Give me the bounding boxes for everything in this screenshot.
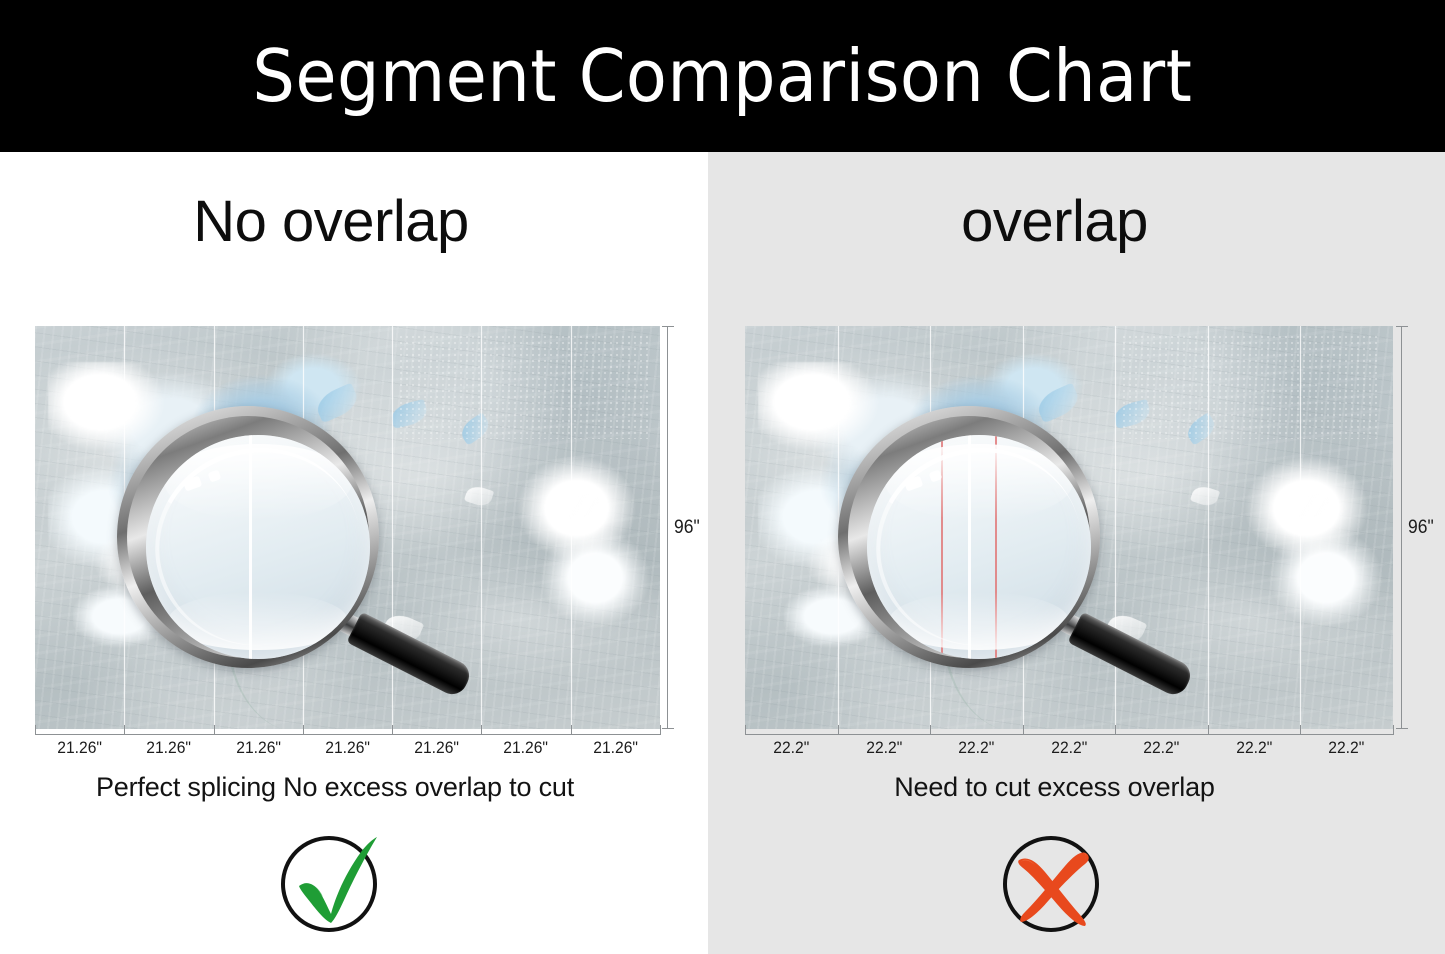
dimension-tick <box>214 725 215 735</box>
comparison-panels: No overlap <box>0 152 1445 954</box>
seam-line <box>481 326 482 729</box>
magnifier-ring-inner <box>127 416 369 658</box>
caption-left: Perfect splicing No excess overlap to cu… <box>0 772 689 803</box>
height-label-left: 96" <box>674 517 700 539</box>
dimension-line-horizontal <box>35 734 660 735</box>
dimension-line-vertical <box>667 326 668 729</box>
caption-right: Need to cut excess overlap <box>686 772 1423 803</box>
dimension-tick <box>745 725 746 735</box>
panel-overlap: overlap <box>708 152 1445 954</box>
width-label: 22.2" <box>1212 738 1297 758</box>
dimension-tick <box>571 725 572 735</box>
width-label: 21.26" <box>485 738 567 758</box>
width-label: 22.2" <box>841 738 926 758</box>
page-title: Segment Comparison Chart <box>253 34 1193 118</box>
width-label: 22.2" <box>1026 738 1111 758</box>
dimension-line-vertical <box>1401 326 1402 729</box>
dimension-tick <box>124 725 125 735</box>
dimension-tick <box>838 725 839 735</box>
dimension-line-horizontal <box>745 734 1393 735</box>
magnifier-ring-inner <box>848 416 1090 658</box>
verdict-right <box>686 824 1423 942</box>
cross-circle-icon <box>995 824 1115 942</box>
panel-heading-right: overlap <box>686 188 1423 255</box>
dimension-tick <box>1396 326 1408 327</box>
mural-left <box>35 326 660 729</box>
width-label: 22.2" <box>1119 738 1204 758</box>
dimension-tick <box>392 725 393 735</box>
width-label: 21.26" <box>306 738 388 758</box>
magnifier-lens <box>867 435 1091 659</box>
panel-no-overlap: No overlap <box>0 152 708 954</box>
seam-line <box>1208 326 1209 729</box>
dimension-tick <box>660 725 661 735</box>
width-label: 22.2" <box>934 738 1019 758</box>
height-label-right: 96" <box>1408 517 1434 539</box>
lens-highlight-bottom <box>168 592 347 650</box>
verdict-left <box>0 824 687 942</box>
dimension-tick <box>303 725 304 735</box>
seam-line <box>1300 326 1301 729</box>
check-circle-icon <box>273 824 393 942</box>
magnifier-ring <box>117 406 379 668</box>
width-label: 21.26" <box>574 738 656 758</box>
mural-right <box>745 326 1393 729</box>
dimension-tick <box>1300 725 1301 735</box>
dimension-tick <box>1208 725 1209 735</box>
dimension-tick <box>35 725 36 735</box>
dimension-tick <box>1396 728 1408 729</box>
width-labels-right: 22.2" 22.2" 22.2" 22.2" 22.2" 22.2" 22.2… <box>745 738 1393 758</box>
title-banner: Segment Comparison Chart <box>0 0 1445 152</box>
lens-highlight-bottom <box>889 592 1068 650</box>
dimension-tick <box>930 725 931 735</box>
dimension-tick <box>662 728 674 729</box>
width-label: 21.26" <box>39 738 121 758</box>
dimension-tick <box>1393 725 1394 735</box>
width-label: 21.26" <box>396 738 478 758</box>
width-label: 22.2" <box>749 738 834 758</box>
magnifier-lens <box>146 435 370 659</box>
dimension-tick <box>481 725 482 735</box>
panel-heading-left: No overlap <box>0 188 685 255</box>
width-label: 21.26" <box>217 738 299 758</box>
dimension-tick <box>1115 725 1116 735</box>
width-label: 22.2" <box>1304 738 1389 758</box>
dimension-tick <box>1023 725 1024 735</box>
width-labels-left: 21.26" 21.26" 21.26" 21.26" 21.26" 21.26… <box>35 738 660 758</box>
magnifier-ring <box>838 406 1100 668</box>
seam-line <box>571 326 572 729</box>
dimension-tick <box>662 326 674 327</box>
width-label: 21.26" <box>128 738 210 758</box>
